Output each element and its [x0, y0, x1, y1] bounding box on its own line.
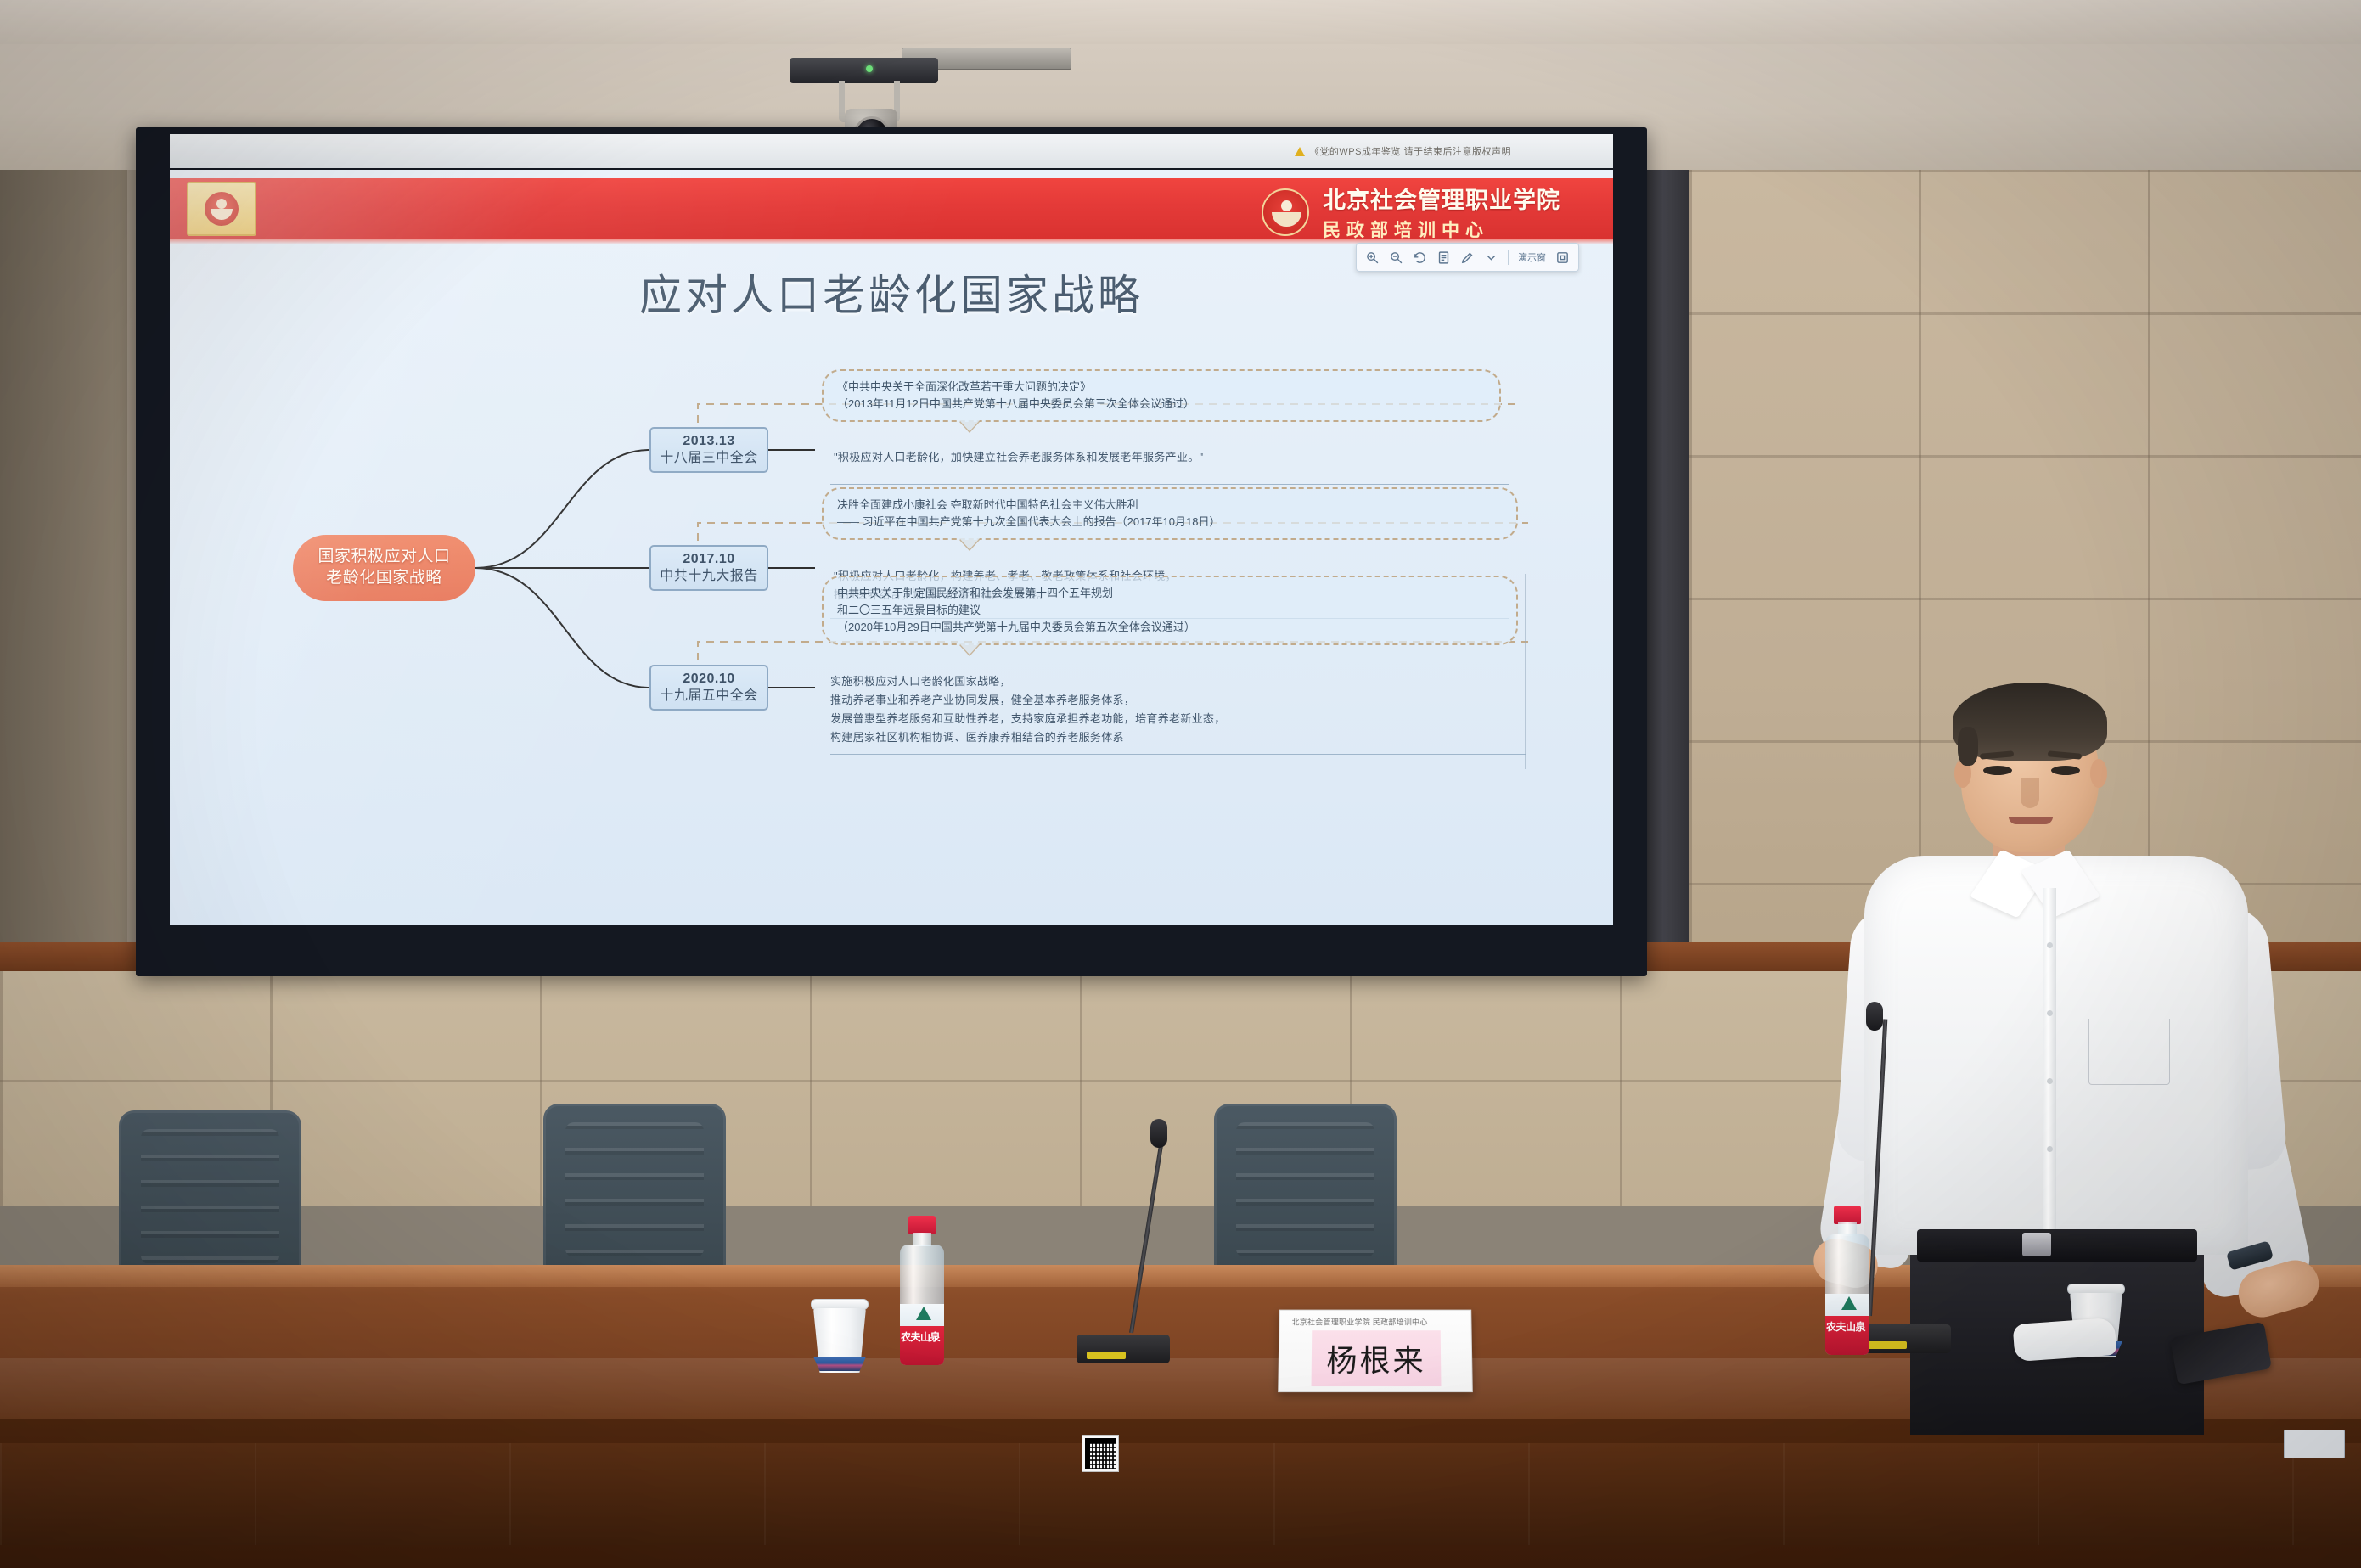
- presenter-mouth: [2009, 817, 2053, 824]
- bottle-cap-left: [908, 1216, 936, 1234]
- quote-3-line-4: 构建居家社区机构相协调、医养康养相结合的养老服务体系: [830, 728, 1526, 747]
- mic-head-left: [1150, 1119, 1167, 1148]
- fullscreen-icon[interactable]: [1555, 250, 1570, 265]
- root-line-2: 老龄化国家战略: [326, 568, 442, 589]
- presenter-ear-right: [2090, 759, 2107, 788]
- presenter-belt: [1917, 1229, 2197, 1262]
- desk-front-panel: [0, 1443, 2361, 1545]
- quote-rule-1: [830, 484, 1509, 485]
- asset-label-sticker: [2284, 1430, 2345, 1458]
- bottle-cap-right: [1834, 1206, 1861, 1224]
- qr-code-icon-left: [1085, 1438, 1116, 1469]
- bubble-1-line-1: 《中共中央关于全面深化改革若干重大问题的决定》: [837, 379, 1486, 396]
- gooseneck-mic-left[interactable]: [1077, 1335, 1170, 1363]
- camera-status-led: [866, 65, 873, 72]
- quote-1: "积极应对人口老龄化，加快建立社会养老服务体系和发展老年服务产业。": [834, 448, 1504, 467]
- bubble-2-line-1: 决胜全面建成小康社会 夺取新时代中国特色社会主义伟大胜利: [837, 497, 1503, 514]
- pdf-viewer-toolbar[interactable]: 演示窗: [1356, 243, 1579, 272]
- quote-3-line-3: 发展普惠型养老服务和互助性养老，支持家庭承担养老功能，培育养老新业态，: [830, 710, 1526, 728]
- slide-header-bar: 北京社会管理职业学院 民政部培训中心: [170, 178, 1613, 239]
- presenter-shirt-pocket: [2088, 1019, 2170, 1085]
- mindmap-root-node: 国家积极应对人口 老龄化国家战略: [293, 535, 475, 601]
- presenter-eye-left: [1983, 766, 2012, 775]
- standing-presenter: [1800, 671, 2309, 1435]
- placard-name-field: 杨根来: [1312, 1330, 1442, 1386]
- left-wall-shadow: [0, 170, 127, 959]
- bottle-tree-icon-right: [1841, 1296, 1857, 1310]
- projection-screen: 北京社会管理职业学院 民政部培训中心 应对人口老龄化国家战略: [170, 170, 1613, 925]
- quote-3-line-1: 实施积极应对人口老龄化国家战略，: [830, 672, 1526, 691]
- water-bottle-left: 农夫山泉: [898, 1216, 946, 1365]
- root-line-1: 国家积极应对人口: [318, 547, 450, 568]
- connector-branch-3: [475, 568, 649, 688]
- gooseneck-mic-right[interactable]: [1858, 1324, 1951, 1353]
- date-value-3: 2020.10: [683, 671, 734, 688]
- bottle-brand-right: 农夫山泉: [1824, 1319, 1868, 1334]
- chevron-down-icon[interactable]: [1484, 250, 1498, 265]
- mindmap: 国家积极应对人口 老龄化国家战略 2013.13 十八届三中全会 《中共中央关于…: [170, 323, 1613, 917]
- qr-sticker-left: [1082, 1435, 1119, 1472]
- bubble-1-line-2: （2013年11月12日中国共产党第十八届中央委员会第三次全体会议通过）: [837, 396, 1486, 413]
- presenter-eye-right: [2051, 766, 2080, 775]
- bubble-2-line-2: —— 习近平在中国共产党第十九次全国代表大会上的报告（2017年10月18日）: [837, 514, 1503, 531]
- zoom-in-icon[interactable]: [1365, 250, 1380, 265]
- shirt-button-2: [2047, 1010, 2053, 1016]
- scene-root: 《党的WPS成年鉴览 请于结束后注意版权声明 北京社会管理职业学院 民政部培训中…: [0, 0, 2361, 1568]
- bottle-tree-icon-left: [916, 1307, 931, 1320]
- bubble-3-line-2: 和二〇三五年远景目标的建议: [837, 602, 1503, 619]
- bubble-3-line-1: 中共中央关于制定国民经济和社会发展第十四个五年规划: [837, 585, 1503, 602]
- toolbar-label: 演示窗: [1518, 250, 1546, 264]
- slide-corner-logo: [187, 182, 256, 236]
- placard-name: 杨根来: [1326, 1336, 1426, 1380]
- quote-rule-3: [830, 754, 1526, 755]
- shirt-button-3: [2047, 1078, 2053, 1084]
- quote-1-line-1: "积极应对人口老龄化，加快建立社会养老服务体系和发展老年服务产业。": [834, 448, 1504, 467]
- page-fit-icon[interactable]: [1436, 250, 1451, 265]
- zoom-out-icon[interactable]: [1389, 250, 1403, 265]
- presenter-belt-buckle: [2022, 1233, 2051, 1256]
- mic-head-right: [1866, 1002, 1883, 1031]
- projector-topbar: 《党的WPS成年鉴览 请于结束后注意版权声明: [170, 134, 1613, 168]
- date-event-1: 十八届三中全会: [660, 450, 758, 467]
- rotate-icon[interactable]: [1413, 250, 1427, 265]
- camera-mic-bar: [790, 58, 938, 83]
- projection-screen-frame: 《党的WPS成年鉴览 请于结束后注意版权声明 北京社会管理职业学院 民政部培训中…: [136, 127, 1647, 976]
- shirt-button-4: [2047, 1146, 2053, 1152]
- conference-chair-3: [1214, 1104, 1397, 1269]
- date-node-3: 2020.10 十九届五中全会: [649, 665, 768, 711]
- bubble-1: 《中共中央关于全面深化改革若干重大问题的决定》 （2013年11月12日中国共产…: [822, 369, 1501, 422]
- school-emblem: [1262, 188, 1309, 236]
- logo-mark-icon: [205, 192, 239, 226]
- date-value-1: 2013.13: [683, 433, 734, 450]
- bottle-brand-left: 农夫山泉: [898, 1329, 942, 1344]
- tissue-paper: [2013, 1318, 2117, 1362]
- water-bottle-right: 农夫山泉: [1824, 1206, 1871, 1355]
- presenter-nose: [2021, 778, 2039, 808]
- institution-subname: 民政部培训中心: [1323, 216, 1560, 242]
- right-divider: [1525, 574, 1526, 769]
- bubble-3-line-3: （2020年10月29日中国共产党第十九届中央委员会第五次全体会议通过）: [837, 619, 1503, 636]
- presenter-shirt-placket: [2043, 888, 2056, 1245]
- bubble-2: 决胜全面建成小康社会 夺取新时代中国特色社会主义伟大胜利 —— 习近平在中国共产…: [822, 487, 1518, 540]
- conference-chair-1: [119, 1110, 301, 1276]
- topbar-note: 《党的WPS成年鉴览 请于结束后注意版权声明: [1295, 144, 1511, 158]
- bubble-3: 中共中央关于制定国民经济和社会发展第十四个五年规划 和二〇三五年远景目标的建议 …: [822, 576, 1518, 645]
- institution-name: 北京社会管理职业学院: [1323, 182, 1560, 215]
- cup-stripe-left: [813, 1357, 866, 1371]
- date-event-3: 十九届五中全会: [660, 688, 758, 705]
- date-node-1: 2013.13 十八届三中全会: [649, 427, 768, 473]
- placard-subtitle: 北京社会管理职业学院 民政部培训中心: [1291, 1316, 1427, 1327]
- date-value-2: 2017.10: [683, 551, 734, 568]
- toolbar-separator: [1508, 250, 1509, 265]
- warning-triangle-icon: [1295, 147, 1305, 156]
- ceiling-band: [0, 0, 2361, 44]
- quote-3-line-2: 推动养老事业和养老产业协同发展，健全基本养老服务体系，: [830, 691, 1526, 710]
- date-node-2: 2017.10 中共十九大报告: [649, 545, 768, 591]
- quote-3: 实施积极应对人口老龄化国家战略， 推动养老事业和养老产业协同发展，健全基本养老服…: [830, 672, 1526, 747]
- date-event-2: 中共十九大报告: [660, 568, 758, 585]
- name-placard: 北京社会管理职业学院 民政部培训中心 杨根来: [1278, 1310, 1473, 1392]
- shirt-button-1: [2047, 942, 2053, 948]
- connector-branch-1: [475, 450, 649, 568]
- pen-icon[interactable]: [1460, 250, 1475, 265]
- slide-canvas: 北京社会管理职业学院 民政部培训中心 应对人口老龄化国家战略: [170, 170, 1613, 925]
- conference-chair-2: [543, 1104, 726, 1269]
- institution-block: 北京社会管理职业学院 民政部培训中心: [1262, 182, 1560, 242]
- presenter-hair: [1953, 683, 2107, 761]
